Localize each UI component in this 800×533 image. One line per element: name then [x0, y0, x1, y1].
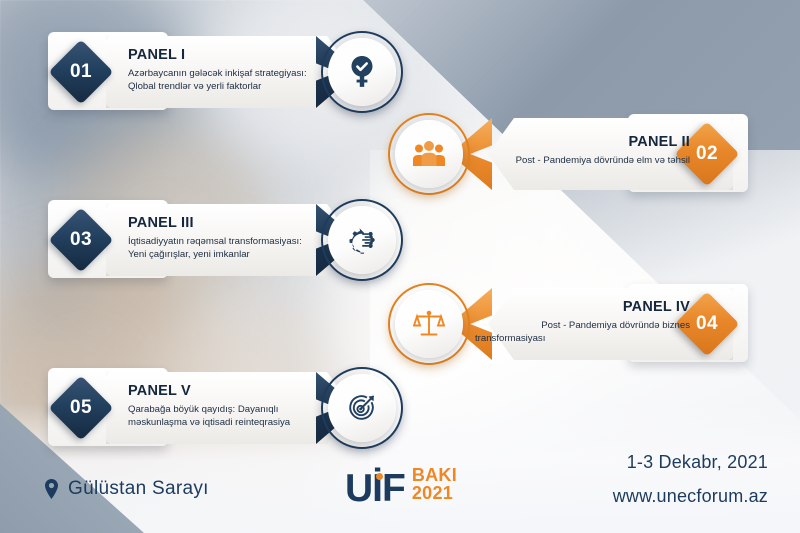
logo-subtext: BAKI 2021: [412, 466, 457, 506]
target-arrow-icon: [328, 374, 396, 442]
logo-wordmark: UİF: [345, 471, 405, 506]
panel-desc-line1: Post - Pandemiya dövründə biznes: [475, 319, 690, 332]
venue-name: Gülüstan Sarayı: [68, 478, 209, 500]
panel-desc-line1: Qarabağa böyük qayıdış: Dayanıqlı: [128, 403, 323, 416]
panel-text-block: PANEL I Azərbaycanın gələcək inkişaf str…: [128, 47, 318, 93]
panel-number: 03: [70, 229, 92, 251]
panel-desc-line1: İqtisadiyyatın rəqəmsal transformasiyası…: [128, 235, 323, 248]
venue-block: Gülüstan Sarayı: [44, 478, 209, 500]
panel-text-block: PANEL III İqtisadiyyatın rəqəmsal transf…: [128, 215, 323, 261]
panel-row-3[interactable]: 03 PANEL III İqtisadiyyatın rəqəmsal tra…: [48, 204, 403, 276]
location-pin-icon: [44, 479, 59, 499]
event-url[interactable]: www.unecforum.az: [613, 486, 768, 507]
people-group-icon: [395, 120, 463, 188]
panel-number: 02: [696, 143, 718, 165]
gear-circuit-icon: [328, 206, 396, 274]
panel-icon-wrap: [321, 31, 403, 113]
panel-row-4[interactable]: 04 PANEL IV Post - Pandemiya dövründə bi…: [388, 288, 748, 360]
panel-title: PANEL V: [128, 383, 323, 400]
event-date: 1-3 Dekabr, 2021: [613, 452, 768, 473]
panel-icon-wrap: [388, 113, 470, 195]
panel-title: PANEL I: [128, 47, 318, 64]
panel-desc-line2: Qlobal trendlər və yerli faktorlar: [128, 80, 318, 93]
panel-row-1[interactable]: 01 PANEL I Azərbaycanın gələcək inkişaf …: [48, 36, 403, 108]
panel-title: PANEL III: [128, 215, 323, 232]
panel-desc-line2: Yeni çağırışlar, yeni imkanlar: [128, 248, 323, 261]
event-info-block: 1-3 Dekabr, 2021 www.unecforum.az: [613, 452, 768, 507]
logo-year: 2021: [412, 484, 457, 502]
panel-desc-line2: məskunlaşma və iqtisadi reinteqrasiya: [128, 416, 323, 429]
panel-icon-wrap: [321, 367, 403, 449]
panel-row-5[interactable]: 05 PANEL V Qarabağa böyük qayıdış: Dayan…: [48, 372, 403, 444]
logo-city: BAKI: [412, 466, 457, 484]
panel-desc-line1: Post - Pandemiya dövründə elm və təhsil: [470, 154, 690, 167]
panel-number: 01: [70, 61, 92, 83]
panel-row-2[interactable]: 02 PANEL II Post - Pandemiya dövründə el…: [388, 118, 748, 190]
panel-title: PANEL II: [470, 134, 690, 151]
panel-title: PANEL IV: [475, 299, 690, 316]
scales-balance-icon: [395, 290, 463, 358]
pin-check-icon: [328, 38, 396, 106]
logo-text: UİF: [345, 467, 405, 510]
panel-desc-line2: transformasiyası: [475, 332, 690, 345]
panel-text-block: PANEL IV Post - Pandemiya dövründə bizne…: [475, 299, 690, 345]
panel-desc-line1: Azərbaycanın gələcək inkişaf strategiyas…: [128, 67, 318, 80]
poster-canvas: 01 PANEL I Azərbaycanın gələcək inkişaf …: [0, 0, 800, 533]
panel-number: 04: [696, 313, 718, 335]
panel-text-block: PANEL II Post - Pandemiya dövründə elm v…: [470, 134, 690, 167]
panel-icon-wrap: [388, 283, 470, 365]
panel-number: 05: [70, 397, 92, 419]
panel-text-block: PANEL V Qarabağa böyük qayıdış: Dayanıql…: [128, 383, 323, 429]
logo-dot-accent: [376, 473, 383, 480]
panel-icon-wrap: [321, 199, 403, 281]
event-logo: UİF BAKI 2021: [345, 466, 457, 506]
